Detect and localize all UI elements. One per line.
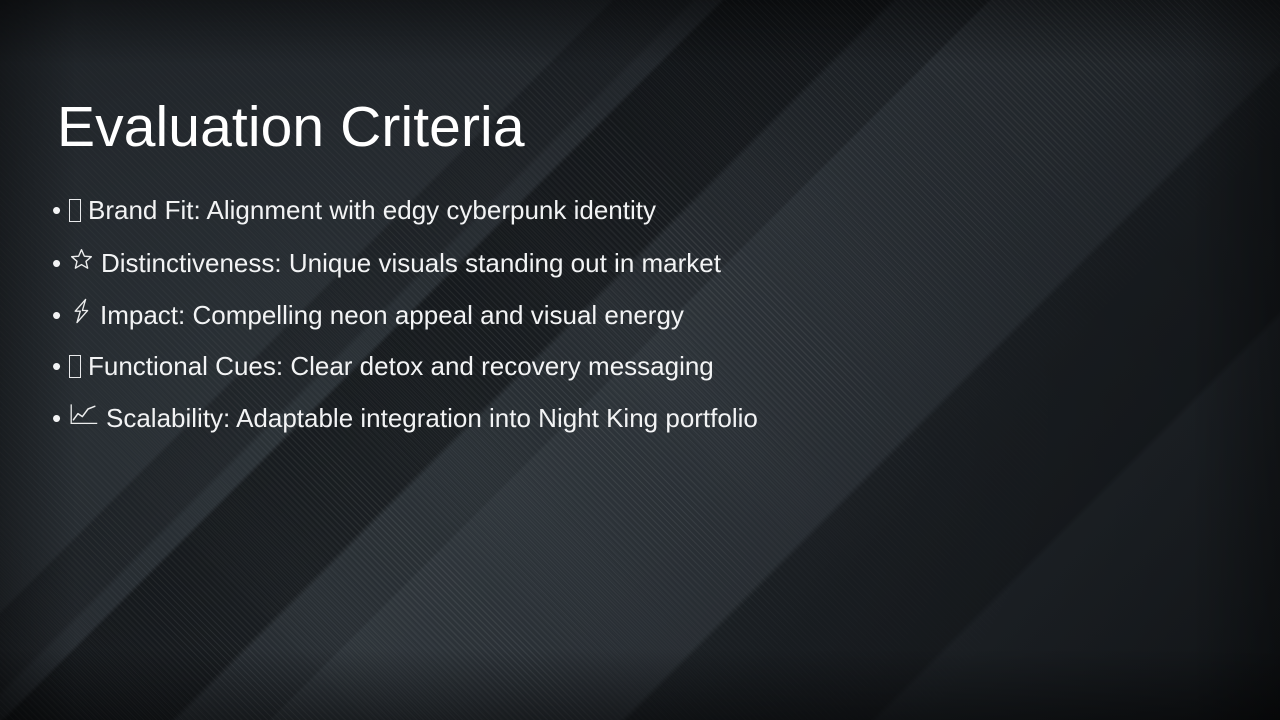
presentation-slide: Evaluation Criteria • Brand Fit: Alignme… bbox=[0, 0, 1280, 720]
list-item: • Distinctiveness: Unique visuals standi… bbox=[52, 238, 1240, 290]
lightning-bolt-icon bbox=[69, 290, 93, 332]
bullet-marker-icon: • bbox=[52, 397, 69, 439]
list-item-label: Functional Cues: Clear detox and recover… bbox=[88, 345, 714, 387]
missing-glyph-box-icon bbox=[69, 186, 81, 228]
page-title: Evaluation Criteria bbox=[57, 94, 525, 161]
list-item-label: Brand Fit: Alignment with edgy cyberpunk… bbox=[88, 189, 656, 231]
missing-glyph-box-icon bbox=[69, 342, 81, 384]
chart-increasing-icon bbox=[69, 394, 99, 436]
list-item: • Scalability: Adaptable integration int… bbox=[52, 394, 1240, 446]
bullet-list: • Brand Fit: Alignment with edgy cyberpu… bbox=[52, 186, 1240, 446]
slide-content: Evaluation Criteria • Brand Fit: Alignme… bbox=[0, 0, 1280, 720]
list-item-label: Distinctiveness: Unique visuals standing… bbox=[101, 242, 721, 284]
bullet-marker-icon: • bbox=[52, 345, 69, 387]
star-outline-icon bbox=[69, 238, 94, 280]
list-item: • Impact: Compelling neon appeal and vis… bbox=[52, 290, 1240, 342]
bullet-marker-icon: • bbox=[52, 189, 69, 231]
list-item-label: Scalability: Adaptable integration into … bbox=[106, 397, 758, 439]
list-item-label: Impact: Compelling neon appeal and visua… bbox=[100, 294, 684, 336]
list-item: • Functional Cues: Clear detox and recov… bbox=[52, 342, 1240, 394]
bullet-marker-icon: • bbox=[52, 294, 69, 336]
list-item: • Brand Fit: Alignment with edgy cyberpu… bbox=[52, 186, 1240, 238]
bullet-marker-icon: • bbox=[52, 242, 69, 284]
